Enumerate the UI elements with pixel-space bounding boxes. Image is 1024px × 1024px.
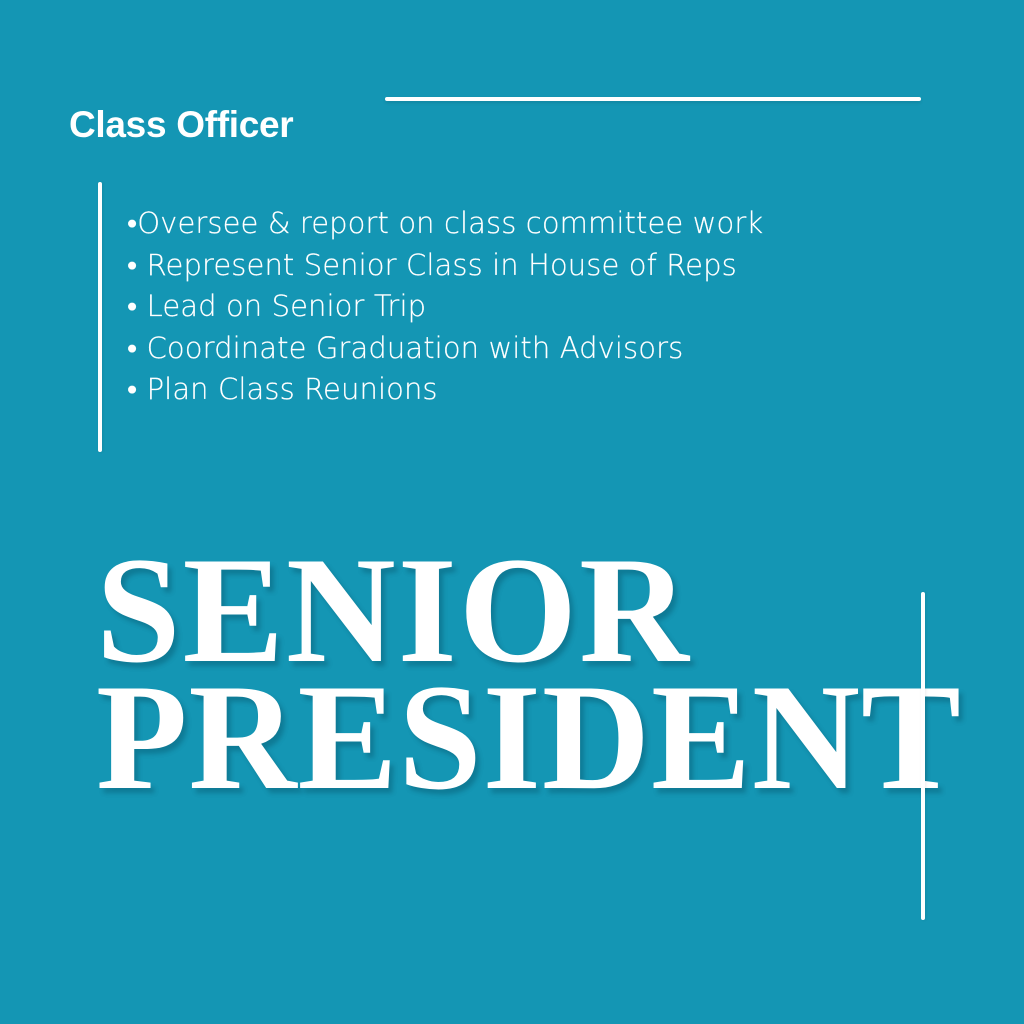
poster-canvas: Class Officer •Oversee & report on class… [0, 0, 1024, 1024]
role-title: SENIOR PRESIDENT [96, 540, 975, 809]
right-vertical-rule [921, 592, 925, 920]
list-item: •Oversee & report on class committee wor… [127, 203, 887, 245]
responsibilities-list: •Oversee & report on class committee wor… [127, 203, 887, 411]
role-title-line-2: PRESIDENT [96, 667, 962, 808]
list-item: • Lead on Senior Trip [127, 286, 887, 328]
list-item: • Represent Senior Class in House of Rep… [127, 245, 887, 287]
page-title: Class Officer [69, 104, 293, 147]
top-horizontal-rule [385, 97, 921, 101]
list-item: • Plan Class Reunions [127, 369, 887, 411]
list-item: • Coordinate Graduation with Advisors [127, 328, 887, 370]
left-vertical-rule [98, 182, 102, 452]
